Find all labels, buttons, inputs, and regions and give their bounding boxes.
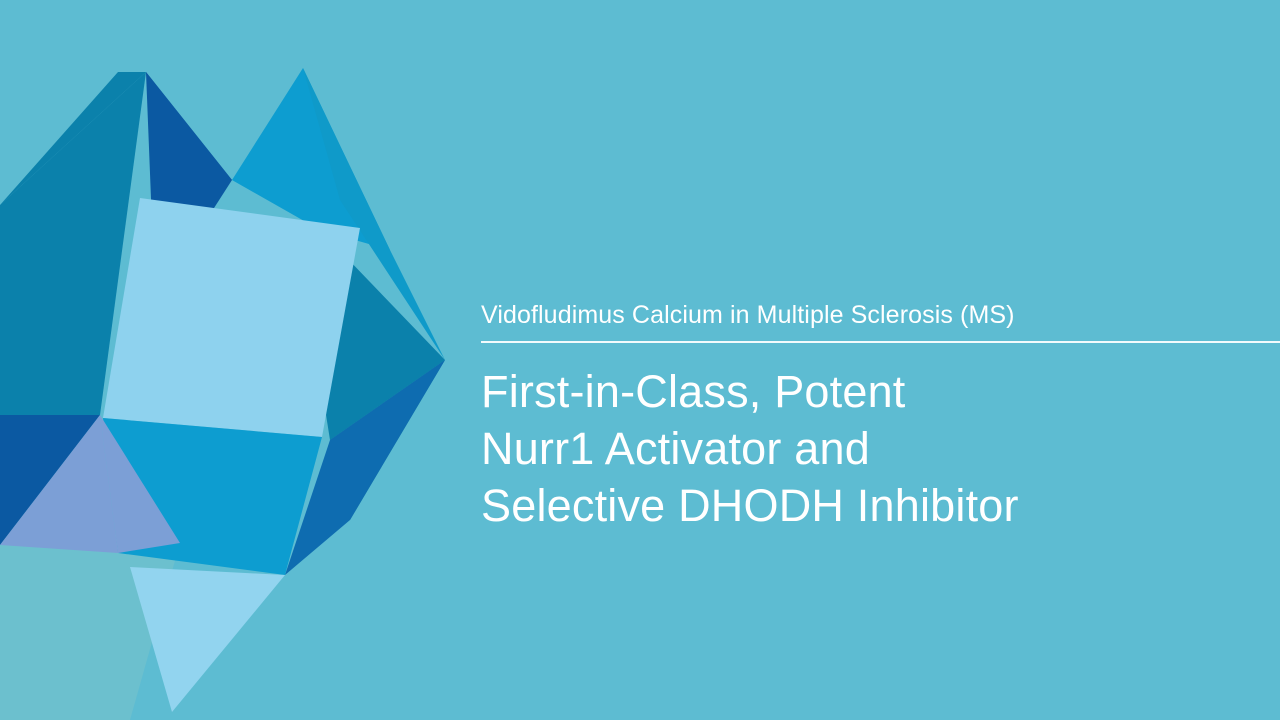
slide-title: First-in-Class, Potent Nurr1 Activator a… — [481, 363, 1280, 534]
title-slide: Vidofludimus Calcium in Multiple Scleros… — [0, 0, 1280, 720]
title-line-1: First-in-Class, Potent — [481, 363, 1280, 420]
title-line-2: Nurr1 Activator and — [481, 420, 1280, 477]
title-divider-rule — [481, 341, 1280, 343]
slide-subtitle: Vidofludimus Calcium in Multiple Scleros… — [481, 300, 1280, 330]
title-line-3: Selective DHODH Inhibitor — [481, 477, 1280, 534]
slide-text-block: Vidofludimus Calcium in Multiple Scleros… — [481, 300, 1280, 534]
facet-pale-square-center — [103, 198, 360, 437]
low-poly-diamond-graphic — [0, 0, 470, 720]
